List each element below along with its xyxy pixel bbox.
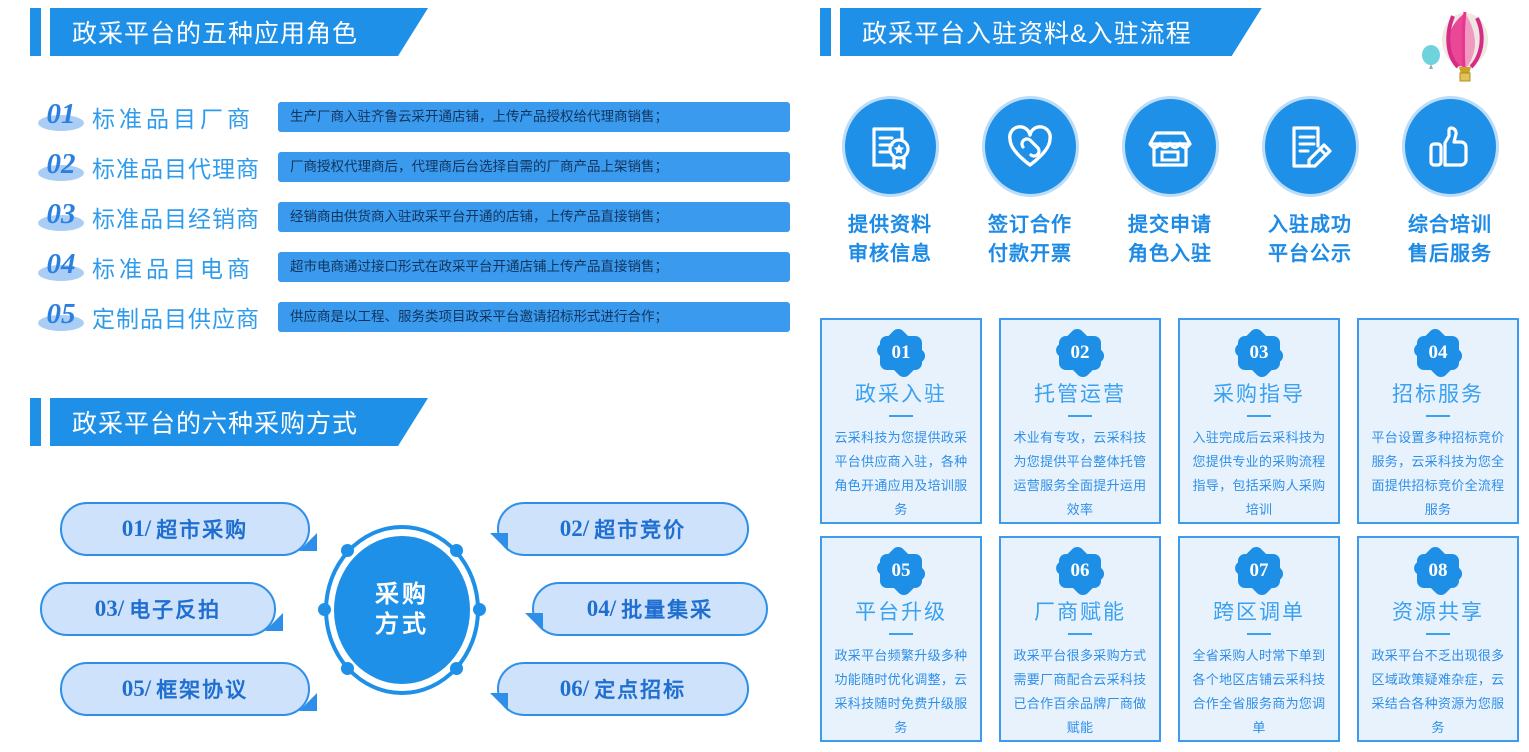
purchase-hub: 采购 方式 <box>324 525 480 695</box>
infographic-page: 政采平台的五种应用角色 01 标准品目厂商 生产厂商入驻齐鲁云采开通店铺，上传产… <box>0 0 1529 752</box>
role-number-text: 01 <box>47 100 76 129</box>
onboarding-flow: 提供资料 审核信息 签订合作 付款开票 <box>820 96 1520 269</box>
banner-gap <box>831 8 840 56</box>
way-item-05[interactable]: 05/ 框架协议 <box>60 662 310 716</box>
flow-step-label: 综合培训 售后服务 <box>1408 211 1492 269</box>
flow-step-5: 综合培训 售后服务 <box>1380 96 1520 269</box>
hub-line-1: 采购 <box>375 580 429 610</box>
banner-gap <box>41 398 50 446</box>
way-number: 05/ <box>122 676 151 702</box>
role-row: 01 标准品目厂商 生产厂商入驻齐鲁云采开通店铺，上传产品授权给代理商销售； <box>30 92 790 142</box>
card-number: 06 <box>1071 560 1090 582</box>
pill-tail <box>525 613 543 631</box>
way-item-04[interactable]: 04/ 批量集采 <box>532 582 768 636</box>
role-number-badge: 03 <box>30 203 92 232</box>
way-label: 定点招标 <box>594 674 686 704</box>
role-title: 定制品目供应商 <box>92 300 278 334</box>
role-number-text: 05 <box>47 300 76 329</box>
hub-core: 采购 方式 <box>334 536 470 684</box>
card-description: 全省采购人时常下单到各个地区店铺云采科技合作全省服务商为您调单 <box>1180 644 1338 740</box>
way-number: 02/ <box>560 516 589 542</box>
card-title: 厂商赋能 <box>1034 596 1126 626</box>
banner-accent-bar <box>30 398 41 446</box>
service-card[interactable]: 06 厂商赋能 政采平台很多采购方式需要厂商配合云采科技已合作百余品牌厂商做赋能 <box>999 536 1161 742</box>
pill-tail <box>299 693 317 711</box>
role-number-text: 04 <box>47 250 76 279</box>
role-title: 标准品目电商 <box>92 250 278 284</box>
role-number-badge: 02 <box>30 153 92 182</box>
ways-section-banner: 政采平台的六种采购方式 <box>30 398 428 446</box>
card-description: 云采科技为您提供政采平台供应商入驻，各种角色开通应用及培训服务 <box>822 426 980 522</box>
role-title: 标准品目厂商 <box>92 100 278 134</box>
hot-air-balloon-icon <box>1393 6 1513 86</box>
hub-dot <box>473 603 486 616</box>
hub-dot <box>450 544 463 557</box>
way-label: 批量集采 <box>621 594 713 624</box>
flow-step-4: 入驻成功 平台公示 <box>1240 96 1380 269</box>
flow-step-label: 签订合作 付款开票 <box>988 211 1072 269</box>
card-description: 平台设置多种招标竞价服务，云采科技为您全面提供招标竞价全流程服务 <box>1359 426 1517 522</box>
flow-section-title: 政采平台入驻资料&入驻流程 <box>840 8 1262 56</box>
card-description: 政采平台不乏出现很多区域政策疑难杂症，云采结合各种资源为您服务 <box>1359 644 1517 740</box>
flow-step-label: 入驻成功 平台公示 <box>1268 211 1352 269</box>
card-number: 03 <box>1250 342 1269 364</box>
card-divider <box>889 415 913 417</box>
flow-step-circle[interactable] <box>842 96 939 197</box>
way-label: 超市采购 <box>156 514 248 544</box>
card-title: 跨区调单 <box>1213 596 1305 626</box>
flow-step-2: 签订合作 付款开票 <box>960 96 1100 269</box>
hub-dot <box>450 662 463 675</box>
flow-label-line-1: 综合培训 <box>1408 211 1492 240</box>
service-card[interactable]: 04 招标服务 平台设置多种招标竞价服务，云采科技为您全面提供招标竞价全流程服务 <box>1357 318 1519 524</box>
card-number: 08 <box>1429 560 1448 582</box>
flow-section-banner: 政采平台入驻资料&入驻流程 <box>820 8 1262 56</box>
pill-tail <box>265 613 283 631</box>
flow-label-line-2: 售后服务 <box>1408 240 1492 269</box>
card-number: 02 <box>1071 342 1090 364</box>
way-label: 框架协议 <box>156 674 248 704</box>
role-number-badge: 01 <box>30 103 92 132</box>
flow-step-label: 提交申请 角色入驻 <box>1128 211 1212 269</box>
card-title: 采购指导 <box>1213 378 1305 408</box>
flow-step-circle[interactable] <box>1262 96 1359 197</box>
card-number-badge: 06 <box>1059 554 1101 588</box>
role-row: 02 标准品目代理商 厂商授权代理商后，代理商后台选择自需的厂商产品上架销售； <box>30 142 790 192</box>
way-label: 电子反拍 <box>129 594 221 624</box>
hub-dot <box>341 544 354 557</box>
card-title: 托管运营 <box>1034 378 1126 408</box>
card-divider <box>1247 415 1271 417</box>
card-title: 平台升级 <box>855 596 947 626</box>
flow-label-line-2: 角色入驻 <box>1128 240 1212 269</box>
way-item-06[interactable]: 06/ 定点招标 <box>497 662 749 716</box>
hub-dot <box>318 603 331 616</box>
roles-list: 01 标准品目厂商 生产厂商入驻齐鲁云采开通店铺，上传产品授权给代理商销售； 0… <box>30 92 790 342</box>
card-number: 05 <box>892 560 911 582</box>
card-divider <box>1426 633 1450 635</box>
flow-label-line-2: 审核信息 <box>848 240 932 269</box>
card-divider <box>1068 633 1092 635</box>
card-number: 01 <box>892 342 911 364</box>
role-title: 标准品目代理商 <box>92 150 278 184</box>
card-divider <box>889 633 913 635</box>
card-number-badge: 04 <box>1417 336 1459 370</box>
card-description: 术业有专攻，云采科技为您提供平台整体托管运营服务全面提升运用效率 <box>1001 426 1159 522</box>
certificate-icon <box>864 121 916 173</box>
roles-section-banner: 政采平台的五种应用角色 <box>30 8 428 56</box>
card-title: 资源共享 <box>1392 596 1484 626</box>
way-number: 01/ <box>122 516 151 542</box>
banner-accent-bar <box>30 8 41 56</box>
storefront-icon <box>1144 121 1196 173</box>
heart-link-icon <box>1004 121 1056 173</box>
flow-step-circle[interactable] <box>982 96 1079 197</box>
service-card[interactable]: 01 政采入驻 云采科技为您提供政采平台供应商入驻，各种角色开通应用及培训服务 <box>820 318 982 524</box>
card-divider <box>1426 415 1450 417</box>
pill-tail <box>490 693 508 711</box>
flow-label-line-2: 付款开票 <box>988 240 1072 269</box>
card-title: 政采入驻 <box>855 378 947 408</box>
role-description: 厂商授权代理商后，代理商后台选择自需的厂商产品上架销售； <box>278 152 790 183</box>
card-number-badge: 01 <box>880 336 922 370</box>
flow-label-line-1: 入驻成功 <box>1268 211 1352 240</box>
way-number: 04/ <box>587 596 616 622</box>
card-description: 政采平台很多采购方式需要厂商配合云采科技已合作百余品牌厂商做赋能 <box>1001 644 1159 740</box>
hub-dot <box>341 662 354 675</box>
way-item-02[interactable]: 02/ 超市竞价 <box>497 502 749 556</box>
flow-step-circle[interactable] <box>1402 96 1499 197</box>
card-divider <box>1247 633 1271 635</box>
role-number-text: 03 <box>47 200 76 229</box>
role-row: 05 定制品目供应商 供应商是以工程、服务类项目政采平台邀请招标形式进行合作； <box>30 292 790 342</box>
card-description: 入驻完成后云采科技为您提供专业的采购流程指导，包括采购人采购培训 <box>1180 426 1338 522</box>
way-number: 03/ <box>95 596 124 622</box>
service-card[interactable]: 03 采购指导 入驻完成后云采科技为您提供专业的采购流程指导，包括采购人采购培训 <box>1178 318 1340 524</box>
ways-section-title: 政采平台的六种采购方式 <box>50 398 428 446</box>
role-description: 供应商是以工程、服务类项目政采平台邀请招标形式进行合作； <box>278 302 790 333</box>
card-number-badge: 08 <box>1417 554 1459 588</box>
role-row: 04 标准品目电商 超市电商通过接口形式在政采平台开通店铺上传产品直接销售； <box>30 242 790 292</box>
card-number-badge: 05 <box>880 554 922 588</box>
card-number: 04 <box>1429 342 1448 364</box>
service-card[interactable]: 05 平台升级 政采平台频繁升级多种功能随时优化调整，云采科技随时免费升级服务 <box>820 536 982 742</box>
pill-tail <box>490 533 508 551</box>
role-description: 生产厂商入驻齐鲁云采开通店铺，上传产品授权给代理商销售； <box>278 102 790 133</box>
role-number-badge: 05 <box>30 303 92 332</box>
card-title: 招标服务 <box>1392 378 1484 408</box>
way-number: 06/ <box>560 676 589 702</box>
role-description: 经销商由供货商入驻政采平台开通的店铺，上传产品直接销售； <box>278 202 790 233</box>
thumbs-up-icon <box>1424 121 1476 173</box>
flow-label-line-1: 签订合作 <box>988 211 1072 240</box>
role-description: 超市电商通过接口形式在政采平台开通店铺上传产品直接销售； <box>278 252 790 283</box>
way-item-03[interactable]: 03/ 电子反拍 <box>40 582 276 636</box>
flow-step-3: 提交申请 角色入驻 <box>1100 96 1240 269</box>
service-card[interactable]: 07 跨区调单 全省采购人时常下单到各个地区店铺云采科技合作全省服务商为您调单 <box>1178 536 1340 742</box>
flow-step-1: 提供资料 审核信息 <box>820 96 960 269</box>
role-number-badge: 04 <box>30 253 92 282</box>
roles-section-title: 政采平台的五种应用角色 <box>50 8 428 56</box>
way-label: 超市竞价 <box>594 514 686 544</box>
flow-label-line-1: 提交申请 <box>1128 211 1212 240</box>
card-divider <box>1068 415 1092 417</box>
card-number-badge: 03 <box>1238 336 1280 370</box>
way-item-01[interactable]: 01/ 超市采购 <box>60 502 310 556</box>
flow-label-line-1: 提供资料 <box>848 211 932 240</box>
flow-step-label: 提供资料 审核信息 <box>848 211 932 269</box>
card-description: 政采平台频繁升级多种功能随时优化调整，云采科技随时免费升级服务 <box>822 644 980 740</box>
flow-label-line-2: 平台公示 <box>1268 240 1352 269</box>
card-number-badge: 07 <box>1238 554 1280 588</box>
flow-step-circle[interactable] <box>1122 96 1219 197</box>
service-cards-grid: 01 政采入驻 云采科技为您提供政采平台供应商入驻，各种角色开通应用及培训服务 … <box>820 318 1520 742</box>
pill-tail <box>299 533 317 551</box>
card-number: 07 <box>1250 560 1269 582</box>
service-card[interactable]: 08 资源共享 政采平台不乏出现很多区域政策疑难杂症，云采结合各种资源为您服务 <box>1357 536 1519 742</box>
role-title: 标准品目经销商 <box>92 200 278 234</box>
banner-gap <box>41 8 50 56</box>
role-row: 03 标准品目经销商 经销商由供货商入驻政采平台开通的店铺，上传产品直接销售； <box>30 192 790 242</box>
card-number-badge: 02 <box>1059 336 1101 370</box>
service-card[interactable]: 02 托管运营 术业有专攻，云采科技为您提供平台整体托管运营服务全面提升运用效率 <box>999 318 1161 524</box>
document-edit-icon <box>1284 121 1336 173</box>
hub-line-2: 方式 <box>375 610 429 640</box>
role-number-text: 02 <box>47 150 76 179</box>
banner-accent-bar <box>820 8 831 56</box>
